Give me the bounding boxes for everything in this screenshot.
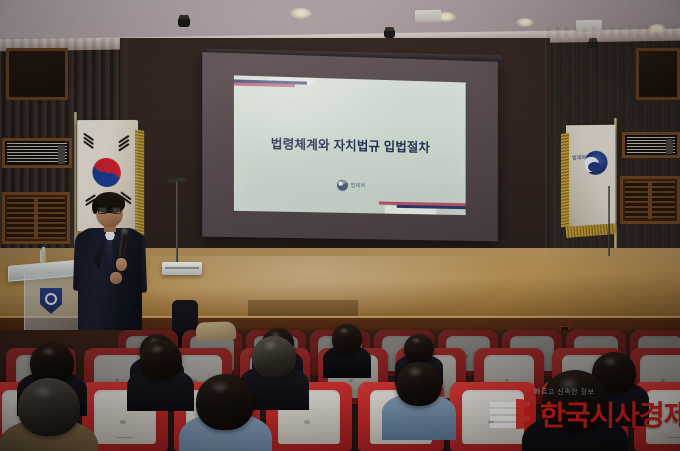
government-taeguk-icon xyxy=(337,180,348,191)
ceiling-spotlight xyxy=(178,18,190,27)
stage-equipment-box xyxy=(162,262,202,275)
microphone-stand xyxy=(176,182,178,264)
audience-member-head xyxy=(396,362,442,406)
audience-member-head xyxy=(18,378,80,436)
ceiling-fixture-box xyxy=(415,10,441,22)
flag-fringe-side xyxy=(135,129,144,235)
water-bottle xyxy=(40,250,46,263)
auditorium-photo: 법령체계와 자치법규 입법절차 법제처 법제처 xyxy=(0,0,680,451)
watermark-swoosh-icon xyxy=(490,399,536,433)
watermark-brand: 한국시사경제 xyxy=(540,402,680,430)
slide-accent-red-topleft xyxy=(234,82,295,87)
draped-coat xyxy=(196,321,237,340)
wall-air-vent-right xyxy=(622,132,680,158)
vent-control-knob[interactable] xyxy=(58,145,65,164)
vent-control-knob[interactable] xyxy=(666,139,673,154)
slide-organization-logo: 법제처 xyxy=(234,177,466,193)
audience-member-head xyxy=(140,340,182,380)
wall-louver-vent-right xyxy=(620,176,680,224)
institution-flag-fringe-side xyxy=(561,133,569,228)
taeguk-icon xyxy=(92,158,120,188)
watermark: 빠르고 신속한 정보 한국시사경제 xyxy=(490,388,675,436)
wall-dark-panel-left xyxy=(6,48,68,100)
audience-member-head xyxy=(196,374,254,430)
audience-member-head xyxy=(252,336,296,378)
audience-member-head xyxy=(332,324,362,354)
slide-title: 법령체계와 자치법규 입법절차 xyxy=(234,132,466,157)
speaker-hand-upper xyxy=(116,258,127,271)
presentation-slide: 법령체계와 자치법규 입법절차 법제처 xyxy=(234,75,466,215)
ceiling-downlight xyxy=(290,8,312,19)
right-side-stand xyxy=(608,186,610,256)
wall-air-vent-left xyxy=(2,138,72,168)
speaker-glasses-icon xyxy=(98,207,121,214)
lectern-emblem-icon xyxy=(40,288,62,314)
slide-organization-label: 법제처 xyxy=(351,182,366,189)
speaker-hand-lower xyxy=(110,272,122,284)
watermark-tagline: 빠르고 신속한 정보 xyxy=(534,387,594,397)
institution-emblem-icon xyxy=(584,151,608,176)
audience-member-head xyxy=(404,334,434,363)
seat-triangle-marking xyxy=(115,421,134,437)
ceiling-downlight xyxy=(516,18,534,27)
institution-flag-label: 법제처 xyxy=(572,155,586,161)
wall-louver-vent-left xyxy=(2,192,70,244)
projection-screen: 법령체계와 자치법규 입법절차 법제처 xyxy=(202,52,498,241)
ceiling-spotlight xyxy=(384,30,395,38)
wall-dark-panel-right xyxy=(636,48,680,100)
